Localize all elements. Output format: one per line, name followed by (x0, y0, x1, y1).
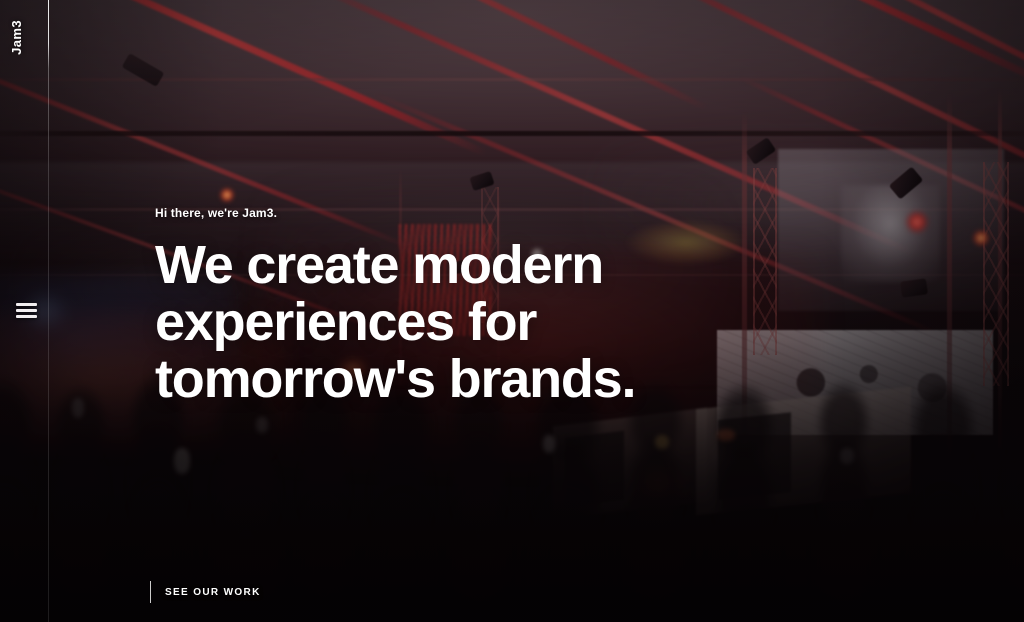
hamburger-bar-2 (16, 309, 37, 312)
brand-logo[interactable]: Jam3 (9, 20, 24, 55)
see-our-work-link[interactable]: SEE OUR WORK (150, 581, 261, 603)
hero-copy-block: Hi there, we're Jam3. We create modern e… (155, 206, 635, 408)
hero-section: Jam3 Hi there, we're Jam3. We create mod… (0, 0, 1024, 622)
hamburger-menu-icon[interactable] (16, 303, 37, 318)
cta-tick-marker (150, 581, 151, 603)
sidebar-divider-line (48, 0, 49, 622)
cta-label: SEE OUR WORK (165, 587, 261, 598)
hero-kicker: Hi there, we're Jam3. (155, 206, 635, 220)
headline-line-3: tomorrow's brands. (155, 351, 635, 408)
hamburger-bar-1 (16, 303, 37, 306)
hamburger-bar-3 (16, 315, 37, 318)
headline-line-2: experiences for (155, 294, 635, 351)
headline-line-1: We create modern (155, 237, 635, 294)
hero-headline: We create modern experiences for tomorro… (155, 237, 635, 408)
